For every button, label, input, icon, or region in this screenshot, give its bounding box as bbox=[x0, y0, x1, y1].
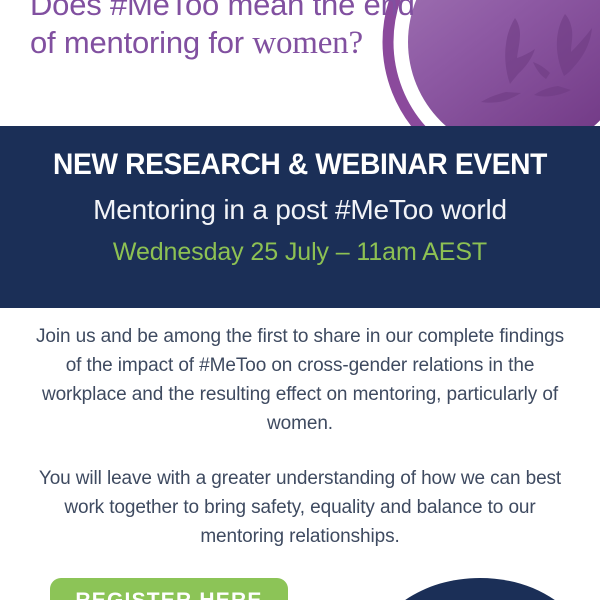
body-copy: Join us and be among the first to share … bbox=[0, 322, 600, 551]
flying-geese-silhouette-icon bbox=[481, 14, 592, 103]
body-paragraph-1: Join us and be among the first to share … bbox=[34, 322, 566, 438]
register-here-button[interactable]: REGISTER HERE bbox=[50, 578, 288, 600]
navy-dome-logo-icon bbox=[358, 572, 600, 600]
headline-line-2: of mentoring for women? bbox=[30, 24, 480, 62]
headline-line-2-plain: of mentoring for bbox=[30, 25, 252, 60]
banner-kicker: NEW RESEARCH & WEBINAR EVENT bbox=[18, 148, 582, 182]
event-banner: NEW RESEARCH & WEBINAR EVENT Mentoring i… bbox=[0, 126, 600, 308]
banner-date: Wednesday 25 July – 11am AEST bbox=[0, 238, 600, 267]
body-paragraph-2: You will leave with a greater understand… bbox=[34, 464, 566, 551]
banner-title: Mentoring in a post #MeToo world bbox=[0, 194, 600, 226]
hero-section: Does #MeToo mean the end of mentoring fo… bbox=[0, 0, 600, 126]
promotional-poster: Does #MeToo mean the end of mentoring fo… bbox=[0, 0, 600, 600]
page-title: Does #MeToo mean the end of mentoring fo… bbox=[30, 0, 480, 62]
headline-emphasis: women? bbox=[252, 25, 363, 61]
headline-line-1: Does #MeToo mean the end bbox=[30, 0, 415, 22]
